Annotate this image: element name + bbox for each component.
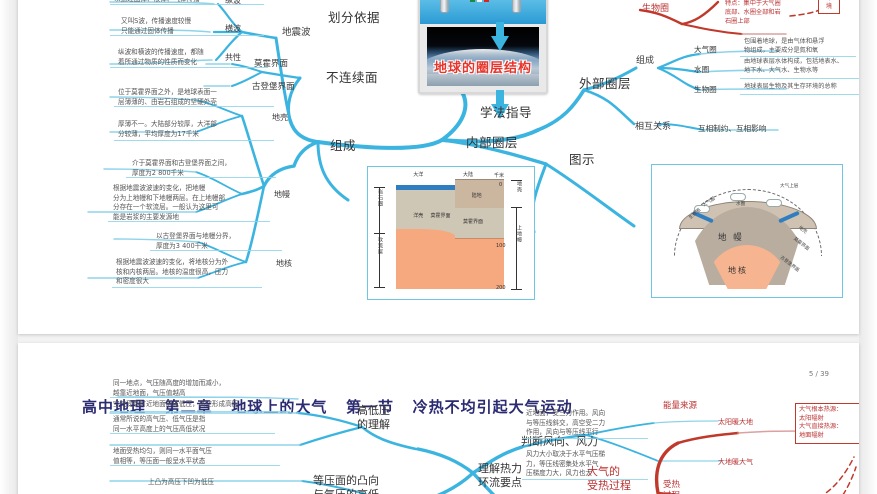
note-4: 上凸为高压下凹为低压 <box>148 478 318 488</box>
label-composition-external: 组成 <box>636 56 654 67</box>
earth-from-space-photo: 地球的圈层结构 <box>427 27 539 86</box>
fig2-label-hydrosphere: 水圈 <box>736 201 745 207</box>
node-seismic-wave: 地震波 <box>282 27 311 39</box>
binder-ring-left <box>440 0 449 13</box>
note-crust-1: 位于莫霍界面之外，是地球表面一 层薄薄的、由岩石组成的坚硬外壳 <box>118 88 278 107</box>
note-5: 近地面，受三力作用。风向 与等压线斜交，高空受二力 作用，风向与等压线平行 <box>526 409 651 438</box>
note-2: 通常所说的高气压、低气压是指 同一水平高度上的气压高低状况 <box>113 415 278 434</box>
fig2-cloud-2 <box>730 193 746 201</box>
note-mantle-2: 根据地震波波速的变化，把地幔 分为上地幔和下地幔两层。在上地幔部 分存在一个软流… <box>113 184 278 222</box>
note-s-wave: 又叫S波，传播速度较慢 只能通过固体传播 <box>121 17 271 36</box>
node-energy-source: 能量来源 <box>663 401 697 412</box>
figure-earth-wedge: 地 幔 地核 大气上层 大气圈 水圈 生物圈 地壳 莫霍界面 古登堡界面 <box>651 164 843 298</box>
branch-study-guide[interactable]: 学法指导 <box>480 105 532 121</box>
center-title: 地球的圈层结构 <box>427 57 539 76</box>
node-hydrosphere: 水圈 <box>694 65 709 74</box>
note-biosphere: 地球表层生物及其生存环境的总称 <box>744 83 859 92</box>
fig2-cloud-3 <box>766 199 782 207</box>
env-callout-box: 环 境 <box>818 0 840 14</box>
note-core-2: 根据地震波波速的变化，将地核分为外 核和内核两层。地核的温度很高，压力 和密度很… <box>116 258 276 287</box>
figure-crust-cross-section: 大洋 大陆 洋壳 莫霍界面 陆地 莫霍界面 岩石圈 软流层 千米 0 100 <box>367 166 535 300</box>
node-isobaric-surface: 等压面的凸向 与气压的高低 <box>313 474 379 494</box>
node-pressure-understanding: 高低压 的理解 <box>357 404 390 432</box>
fig1-depth-200: 200 <box>496 285 506 291</box>
node-core: 地核 <box>276 259 292 269</box>
node-moho: 莫霍界面 <box>254 59 288 70</box>
note-atmosphere: 包围着地球，是由气体和悬浮 物组成，主要成分是氮和氧 <box>744 38 859 56</box>
fig1-depth-0: 0 <box>499 182 502 188</box>
fig1-label-upper-mantle: 上地幔 <box>516 225 523 243</box>
document-viewer[interactable]: 地球的圈层结构 内部圈层 外部圈层 学法指导 图示 划分依据 不连续面 组成 地… <box>0 0 877 494</box>
fig1-label-crust-right: 地壳 <box>516 181 523 193</box>
note-core-1: 以古登堡界面与地幔分界， 厚度为3 400千米 <box>156 232 306 251</box>
fig1-label-ocean: 大洋 <box>413 171 423 178</box>
note-crust-2: 厚薄不一。大陆部分较厚，大洋部 分较薄，平均厚度为17千米 <box>118 120 278 139</box>
binder-top-bar <box>420 0 546 24</box>
branch-illustration[interactable]: 图示 <box>569 152 595 168</box>
fig1-label-oceanic-crust: 洋壳 <box>413 212 423 219</box>
fig1-label-landmass: 陆地 <box>472 192 482 199</box>
branch-external[interactable]: 外部圈层 <box>579 76 631 92</box>
node-earth-warms-air: 大地暖大气 <box>718 457 753 467</box>
fig1-label-land: 大陆 <box>463 171 473 178</box>
page-gutter-left <box>0 0 18 494</box>
node-heating-process: 受热 过程 <box>663 480 680 494</box>
binder-clip-white <box>477 0 482 2</box>
node-biosphere: 生物圈 <box>694 85 717 94</box>
binder-clip-red <box>484 0 489 2</box>
center-node-image[interactable]: 地球的圈层结构 <box>418 0 548 94</box>
note-0: 同一地点，气压随高度的增加而减小， 越靠近地面，气压值越高 <box>113 379 273 398</box>
branch-internal[interactable]: 内部圈层 <box>466 135 518 151</box>
note-biosphere-feature: 特点：集中于大气圈 底部、水圈全部和岩 石圈上部 <box>725 0 809 27</box>
slide-page-1[interactable]: 地球的圈层结构 内部圈层 外部圈层 学法指导 图示 划分依据 不连续面 组成 地… <box>18 0 859 334</box>
fig2-label-core: 地核 <box>728 265 748 276</box>
fig1-label-unit: 千米 <box>494 172 504 179</box>
node-thermal-key: 理解热力 环流要点 <box>478 462 522 490</box>
fig1-label-moho-right: 莫霍界面 <box>463 218 483 225</box>
label-discontinuity: 不连续面 <box>326 70 378 86</box>
fig2-label-mantle: 地 幔 <box>718 231 744 243</box>
mindmap-earth-layers: 地球的圈层结构 内部圈层 外部圈层 学法指导 图示 划分依据 不连续面 组成 地… <box>18 0 859 334</box>
slide-page-2[interactable]: 5 / 39 高中地理 第二章 地球上的大气 第一节 冷热不均引起大气运动 <box>18 343 859 494</box>
label-relation: 相互关系 <box>635 122 671 133</box>
fig2-canvas: 地 幔 地核 大气上层 大气圈 水圈 生物圈 地壳 莫霍界面 古登堡界面 <box>672 181 822 289</box>
fig2-label-atmos-top: 大气上层 <box>780 183 798 189</box>
binder-clip-green <box>470 0 475 2</box>
page-gutter-right <box>859 0 877 494</box>
note-relation: 互相制约、互相影响 <box>698 124 766 133</box>
note-1: 空气受热时近地面形成低压，高空形成高压 <box>113 400 293 410</box>
note-common: 纵波和横波的传播速度，都随 着所通过物质的性质而变化 <box>118 48 273 67</box>
node-atmosphere: 大气圈 <box>694 45 717 54</box>
label-basis: 划分依据 <box>328 10 380 26</box>
note-3: 地面受热均匀，则同一水平面气压 值相等，等压面一般呈水平状态 <box>113 447 283 466</box>
heat-source-callout-box: 大气根本热源： 太阳辐射 大气直接热源： 地面辐射 <box>795 403 859 444</box>
binder-ring-right <box>512 0 521 13</box>
fig1-label-moho-left: 莫霍界面 <box>431 212 451 219</box>
node-biosphere-top: 生物圈 <box>642 4 669 15</box>
label-composition-internal: 组成 <box>330 138 356 154</box>
mindmap-atmosphere: 5 / 39 高中地理 第二章 地球上的大气 第一节 冷热不均引起大气运动 <box>18 343 859 494</box>
note-mantle-1: 介于莫霍界面和古登堡界面之间， 厚度为2 800千米 <box>132 159 292 178</box>
arrow-basis <box>491 22 509 52</box>
fig1-depth-100: 100 <box>496 243 506 249</box>
fig1-canvas: 大洋 大陆 洋壳 莫霍界面 陆地 莫霍界面 <box>396 185 504 289</box>
page-indicator: 5 / 39 <box>809 370 829 378</box>
note-hydrosphere: 由地球表层水体构成，包括地表水、 地下水、大气水、生物水等 <box>744 58 859 76</box>
note-6: 风力大小取决于水平气压梯 力，等压线密集处水平气 压梯度力大，风力也大 <box>526 450 648 479</box>
node-sun-warms-earth: 太阳暖大地 <box>718 417 753 427</box>
